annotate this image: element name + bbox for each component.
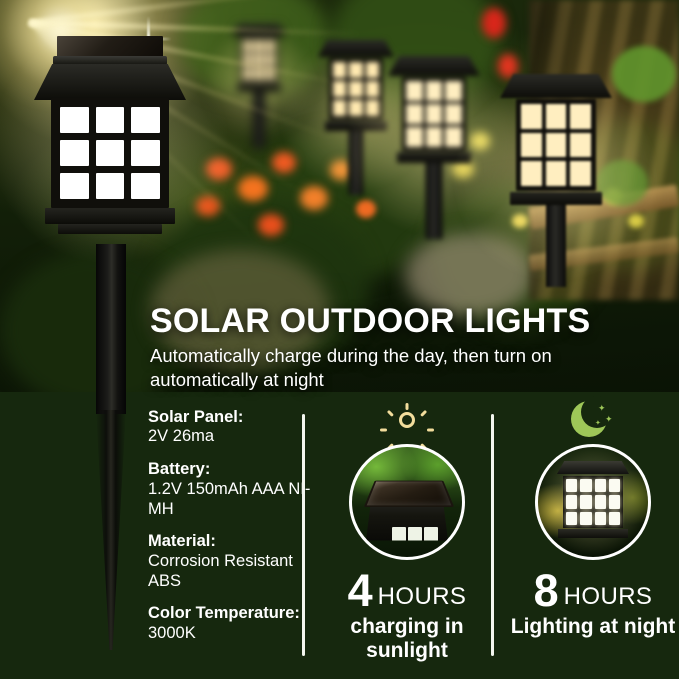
flower — [196, 196, 220, 216]
lantern-pane — [60, 107, 89, 133]
spec-value: 3000K — [148, 624, 313, 644]
lantern-cap-trim — [53, 56, 167, 65]
flower — [628, 214, 644, 228]
lantern-pane — [424, 527, 438, 541]
background-lantern — [232, 24, 286, 144]
lantern-base — [397, 152, 471, 163]
lantern-pane — [96, 140, 125, 166]
lantern-post — [349, 131, 364, 195]
lantern-pane — [445, 81, 462, 101]
spec-value: 1.2V 150mAh AAA NI-MH — [148, 480, 313, 520]
feature-unit: HOURS — [564, 583, 653, 610]
feature-hours: 8HOURS — [500, 568, 679, 613]
feature-hours: 4HOURS — [314, 568, 500, 613]
lantern-pane — [60, 173, 89, 199]
lantern-pane — [426, 81, 443, 101]
flower — [272, 152, 296, 173]
lantern-pane — [580, 512, 591, 525]
lantern-pane — [445, 127, 462, 147]
lantern-post — [426, 163, 443, 239]
background-lantern — [388, 56, 480, 236]
lantern-pane — [392, 527, 406, 541]
lantern-roof — [500, 74, 612, 98]
lantern-pane — [566, 495, 577, 508]
lantern-pane — [595, 479, 606, 492]
spec-value: 2V 26ma — [148, 427, 313, 447]
sun-ray — [380, 429, 387, 432]
lantern-pane — [96, 173, 125, 199]
lantern-pane — [521, 133, 542, 158]
lantern-pane — [609, 495, 620, 508]
moon-icon: ✦ ✦ ✦ — [500, 398, 679, 442]
lantern-pane — [580, 495, 591, 508]
feature-photo-solar-panel — [349, 444, 465, 560]
lantern-pane — [595, 495, 606, 508]
leaf-sprig — [612, 46, 676, 102]
lantern-base-trim — [58, 224, 162, 234]
spec-item-battery: Battery: 1.2V 150mAh AAA NI-MH — [148, 460, 313, 519]
lantern-base — [237, 84, 281, 92]
lantern-pane — [266, 40, 275, 52]
lantern-base — [45, 208, 175, 224]
lantern-roof — [318, 40, 394, 57]
lantern-pane — [570, 161, 591, 186]
flower — [482, 8, 506, 38]
lantern-pane — [406, 127, 423, 147]
solar-panel-cap — [57, 36, 163, 58]
lantern-pane — [243, 54, 252, 66]
lantern-pane — [60, 140, 89, 166]
spec-item-color-temperature: Color Temperature: 3000K — [148, 604, 313, 643]
lantern-pane — [566, 512, 577, 525]
spec-label: Color Temperature: — [148, 604, 313, 623]
lantern-pane — [546, 104, 567, 129]
sun-ray — [427, 429, 434, 432]
lantern-body — [240, 37, 278, 83]
lantern-pane — [426, 127, 443, 147]
lantern-body — [51, 98, 169, 208]
lantern-pane — [445, 104, 462, 124]
sun-icon — [314, 398, 500, 442]
lantern-pane — [243, 40, 252, 52]
feature-photo-night-lantern — [535, 444, 651, 560]
spec-label: Battery: — [148, 460, 313, 479]
feature-lighting: ✦ ✦ ✦ 8HOURS Lighting at night — [500, 398, 679, 639]
spec-label: Solar Panel: — [148, 408, 313, 427]
feature-unit: HOURS — [378, 583, 467, 610]
sun-disc — [399, 412, 415, 428]
lantern-pane — [131, 107, 160, 133]
lantern-roof — [388, 56, 480, 76]
lantern-post — [253, 92, 265, 148]
solar-cell-surface — [364, 480, 454, 506]
hero-lantern — [22, 30, 198, 260]
lantern-pane — [408, 527, 422, 541]
lantern-pane — [266, 68, 275, 80]
lantern-pane — [333, 62, 346, 78]
lantern-base — [510, 192, 602, 205]
sun-ray — [406, 403, 409, 410]
lantern-pane — [254, 54, 263, 66]
feature-number: 4 — [348, 565, 373, 616]
divider — [302, 414, 305, 656]
lantern-base — [558, 529, 628, 538]
spec-value: Corrosion Resistant ABS — [148, 552, 313, 592]
lantern-pane — [546, 161, 567, 186]
feature-caption: Lighting at night — [500, 615, 679, 639]
spec-item-solar-panel: Solar Panel: 2V 26ma — [148, 408, 313, 447]
spec-label: Material: — [148, 532, 313, 551]
feature-charging: 4HOURS charging in sunlight — [314, 398, 500, 662]
lantern-pane — [521, 104, 542, 129]
solar-lantern-top — [364, 471, 450, 545]
sun-glyph — [388, 401, 426, 439]
lantern-body — [516, 99, 596, 191]
background-lantern — [318, 40, 394, 190]
star-icon: ✦ — [595, 420, 601, 427]
lantern-pane — [406, 81, 423, 101]
lantern-pane-row — [392, 527, 438, 541]
lantern-pane — [609, 479, 620, 492]
lantern-pane — [521, 161, 542, 186]
lantern-pane — [580, 479, 591, 492]
lantern-pane — [609, 512, 620, 525]
lantern-pane — [131, 140, 160, 166]
lantern-pane — [366, 81, 379, 97]
page-title: SOLAR OUTDOOR LIGHTS — [150, 304, 590, 338]
lantern-roof — [232, 24, 286, 36]
lantern-base — [325, 121, 387, 131]
lantern-pane — [366, 62, 379, 78]
lantern-pane — [333, 100, 346, 116]
lantern-body — [329, 58, 383, 120]
moon-glyph: ✦ ✦ ✦ — [571, 400, 615, 440]
spec-list: Solar Panel: 2V 26ma Battery: 1.2V 150mA… — [148, 408, 313, 657]
lantern-pane — [254, 68, 263, 80]
lantern-body — [402, 77, 466, 151]
background-lantern — [500, 74, 612, 284]
lantern-post — [546, 205, 566, 287]
lantern-pane — [570, 104, 591, 129]
lantern-pane — [595, 512, 606, 525]
lantern-pane — [426, 104, 443, 124]
lit-lantern — [561, 461, 625, 543]
lantern-pane — [349, 81, 362, 97]
lantern-pane — [570, 133, 591, 158]
lantern-body — [563, 476, 623, 528]
lantern-pane — [254, 40, 263, 52]
lantern-pane — [406, 104, 423, 124]
lantern-pane — [366, 100, 379, 116]
sun-ray — [420, 410, 427, 417]
spec-item-material: Material: Corrosion Resistant ABS — [148, 532, 313, 591]
lantern-pane — [349, 62, 362, 78]
product-marketing-image: SOLAR OUTDOOR LIGHTS Automatically charg… — [0, 0, 679, 679]
lantern-pane — [266, 54, 275, 66]
lantern-roof — [34, 64, 186, 100]
lantern-roof — [557, 461, 629, 474]
page-subtitle: Automatically charge during the day, the… — [150, 344, 650, 391]
lantern-pane — [333, 81, 346, 97]
lantern-pane — [566, 479, 577, 492]
flower — [356, 200, 376, 218]
lantern-post — [96, 244, 126, 414]
feature-caption: charging in sunlight — [314, 615, 500, 662]
flower — [258, 214, 284, 236]
star-icon: ✦ — [605, 415, 613, 424]
lantern-pane — [243, 68, 252, 80]
star-icon: ✦ — [598, 404, 606, 413]
lantern-pane — [96, 107, 125, 133]
lantern-pane — [546, 133, 567, 158]
sun-ray — [387, 410, 394, 417]
flower — [206, 158, 232, 180]
lantern-pane — [349, 100, 362, 116]
flower — [238, 176, 268, 201]
lantern-pane — [131, 173, 160, 199]
feature-number: 8 — [534, 565, 559, 616]
